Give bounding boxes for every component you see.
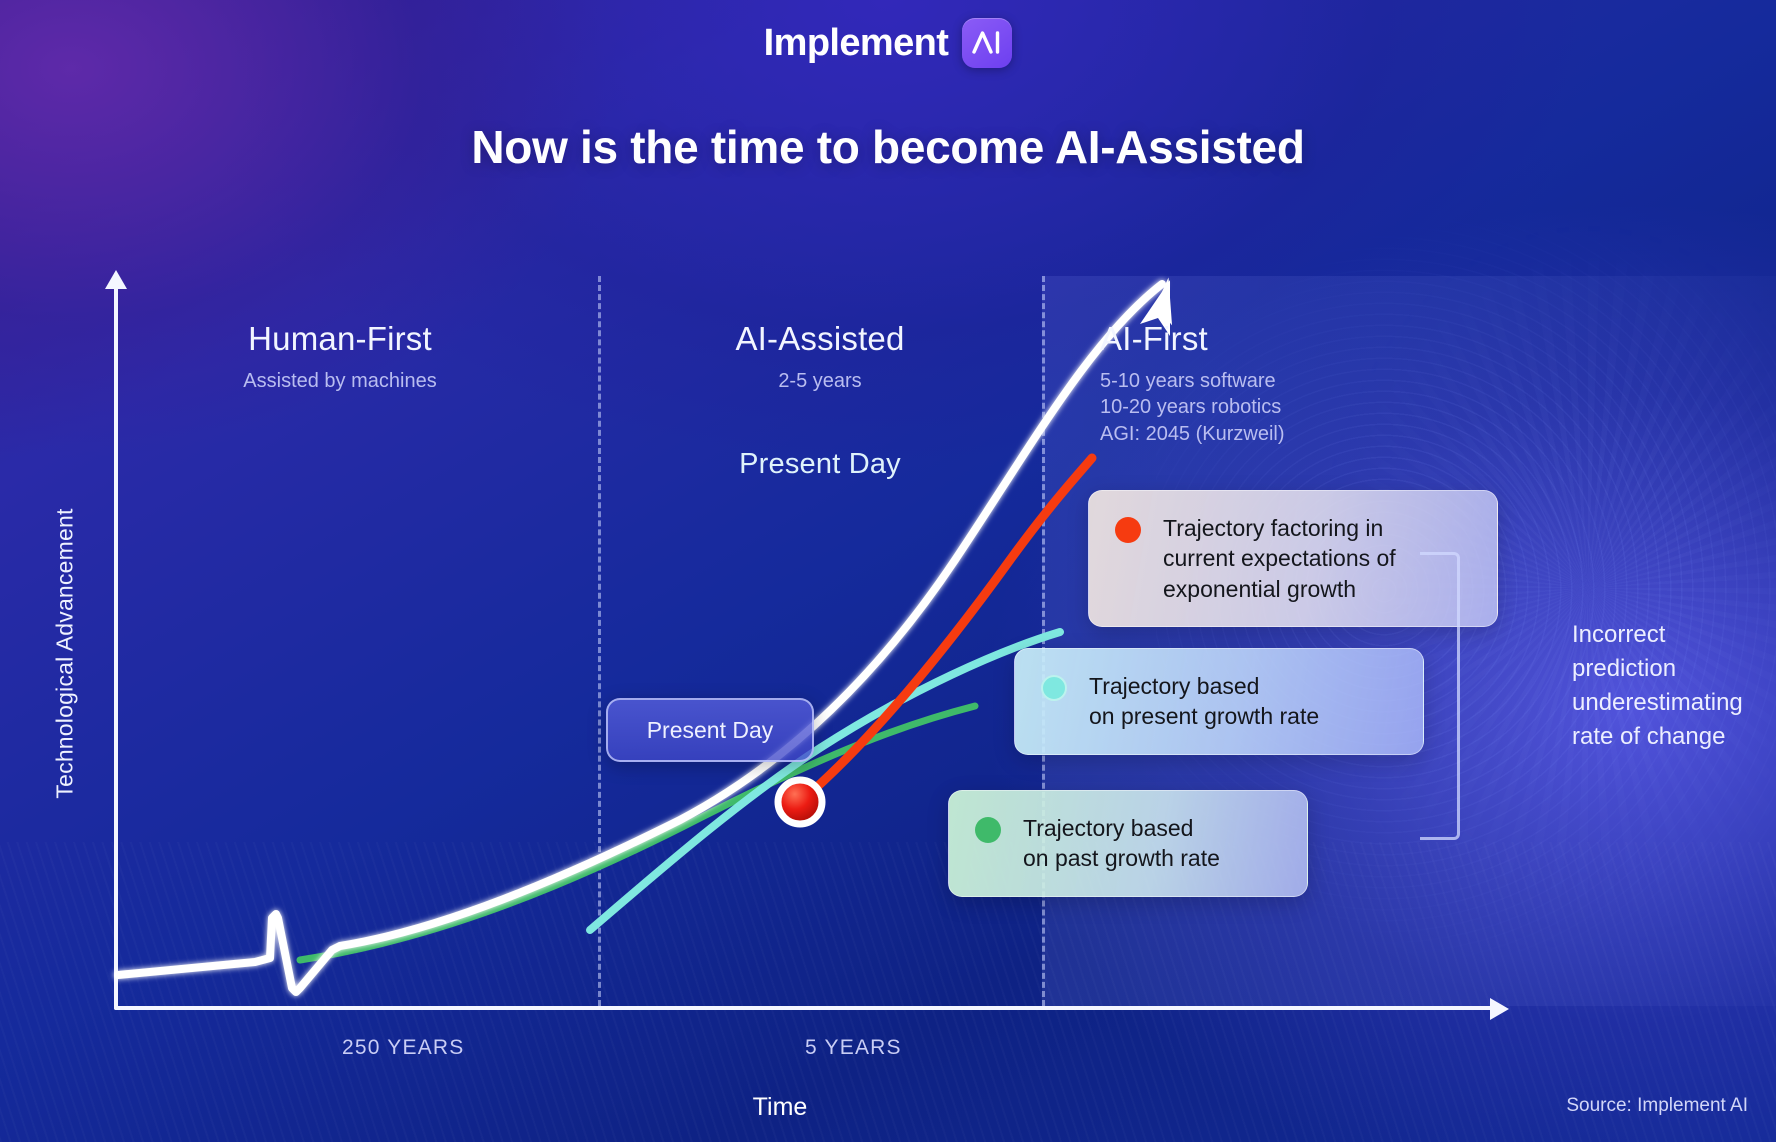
present-day-marker-dot[interactable] — [778, 780, 822, 824]
present-day-pill-label: Present Day — [647, 717, 774, 744]
phase-ai-assisted-subtitle: 2-5 years — [604, 368, 1036, 394]
legend-past-line-1: Trajectory based — [1023, 815, 1193, 841]
phase-ai-first-subtitle: 5-10 years software 10-20 years robotics… — [1100, 368, 1540, 447]
legend-exponential-line-2: current expectations of — [1163, 545, 1396, 571]
annotation-incorrect-prediction: Incorrect prediction underestimating rat… — [1572, 618, 1776, 754]
annotation-line-3: underestimating — [1572, 686, 1776, 720]
phase-ai-assisted-title: AI-Assisted — [604, 320, 1036, 358]
present-day-heading: Present Day — [604, 448, 1036, 481]
legend-label-present-growth: Trajectory based on present growth rate — [1089, 671, 1319, 732]
phase-ai-first-line-1: 5-10 years software — [1100, 368, 1540, 394]
legend-dot-past-growth-icon — [975, 817, 1001, 843]
y-axis-label: Technological Advancement — [52, 484, 79, 824]
x-axis-arrow-icon — [1490, 998, 1509, 1020]
present-day-pill[interactable]: Present Day — [606, 698, 814, 762]
legend-card-present-growth[interactable]: Trajectory based on present growth rate — [1014, 648, 1424, 755]
brand-logo: Implement — [0, 18, 1776, 68]
x-axis-label: Time — [700, 1093, 860, 1122]
annotation-line-1: Incorrect — [1572, 618, 1776, 652]
x-axis-line — [114, 1006, 1494, 1010]
legend-exponential-line-1: Trajectory factoring in — [1163, 515, 1383, 541]
phase-human-first: Human-First Assisted by machines — [130, 320, 550, 394]
ai-badge-icon — [962, 18, 1012, 68]
annotation-line-2: prediction — [1572, 652, 1776, 686]
slide-canvas: Implement Now is the time to become AI-A… — [0, 0, 1776, 1142]
annotation-bracket — [1420, 552, 1460, 840]
phase-human-first-subtitle: Assisted by machines — [130, 368, 550, 394]
x-axis-tick-250-years: 250 YEARS — [342, 1036, 465, 1060]
page-title: Now is the time to become AI-Assisted — [0, 120, 1776, 174]
legend-present-line-2: on present growth rate — [1089, 703, 1319, 729]
y-axis-line — [114, 280, 118, 1010]
legend-label-past-growth: Trajectory based on past growth rate — [1023, 813, 1220, 874]
phase-human-first-title: Human-First — [130, 320, 550, 358]
phase-ai-first-line-2: 10-20 years robotics — [1100, 394, 1540, 420]
legend-dot-exponential-icon — [1115, 517, 1141, 543]
source-credit: Source: Implement AI — [1566, 1095, 1748, 1117]
legend-card-past-growth[interactable]: Trajectory based on past growth rate — [948, 790, 1308, 897]
legend-present-line-1: Trajectory based — [1089, 673, 1259, 699]
phase-ai-first: AI-First 5-10 years software 10-20 years… — [1100, 320, 1540, 447]
y-axis-arrow-icon — [105, 270, 127, 289]
annotation-line-4: rate of change — [1572, 720, 1776, 754]
legend-exponential-line-3: exponential growth — [1163, 576, 1356, 602]
x-axis-tick-5-years: 5 YEARS — [805, 1036, 902, 1060]
legend-label-exponential: Trajectory factoring in current expectat… — [1163, 513, 1396, 604]
brand-name: Implement — [764, 22, 949, 65]
legend-dot-present-growth-icon — [1041, 675, 1067, 701]
legend-past-line-2: on past growth rate — [1023, 845, 1220, 871]
phase-ai-assisted: AI-Assisted 2-5 years — [604, 320, 1036, 394]
phase-ai-first-title: AI-First — [1100, 320, 1540, 358]
decorative-moire-texture — [0, 842, 1776, 1142]
phase-divider-1 — [598, 276, 601, 1006]
phase-ai-first-line-3: AGI: 2045 (Kurzweil) — [1100, 421, 1540, 447]
